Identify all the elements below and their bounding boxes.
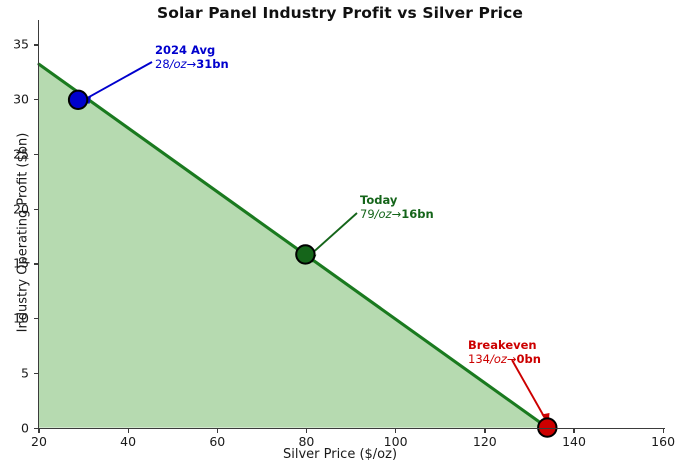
chart-plot-area (0, 0, 680, 471)
y-tick-mark (34, 209, 38, 210)
y-tick-mark (34, 373, 38, 374)
point-marker-2024-avg[interactable] (69, 91, 87, 109)
annotation-2024-avg-price: 28/oz (155, 57, 187, 71)
annotation-breakeven-profit: 0bn (517, 352, 541, 366)
y-tick-mark (34, 154, 38, 155)
annotation-breakeven-price: 134/oz (468, 352, 507, 366)
avg-annotation-arrow (84, 62, 152, 100)
annotation-breakeven-title: Breakeven (468, 339, 541, 353)
y-axis-label: Industry Operating Profit ($bn) (16, 118, 31, 348)
y-tick-mark (34, 263, 38, 264)
annotation-today: Today 79/oz→16bn (360, 194, 434, 221)
annotation-breakeven-arrow-glyph: → (507, 352, 517, 366)
chart-figure: Solar Panel Industry Profit vs Silver Pr… (0, 0, 680, 471)
annotation-today-price: 79/oz (360, 207, 392, 221)
x-tick-mark (306, 429, 307, 433)
point-marker-today[interactable] (296, 245, 314, 263)
annotation-today-title: Today (360, 194, 434, 208)
annotation-2024-avg-detail: 28/oz→31bn (155, 58, 229, 72)
annotation-2024-avg: 2024 Avg 28/oz→31bn (155, 44, 229, 71)
x-tick-mark (38, 429, 39, 433)
annotation-breakeven: Breakeven 134/oz→0bn (468, 339, 541, 366)
annotation-today-profit: 16bn (401, 207, 433, 221)
x-tick-mark (128, 429, 129, 433)
today-annotation-arrow (309, 213, 357, 256)
annotation-2024-avg-title: 2024 Avg (155, 44, 229, 58)
annotation-2024-avg-profit: 31bn (196, 57, 228, 71)
y-tick-label: 0 (0, 420, 29, 435)
x-tick-mark (573, 429, 574, 433)
x-tick-mark (217, 429, 218, 433)
x-tick-mark (395, 429, 396, 433)
y-tick-label: 5 (0, 365, 29, 380)
annotation-today-detail: 79/oz→16bn (360, 208, 434, 222)
y-tick-mark (34, 44, 38, 45)
x-tick-mark (484, 429, 485, 433)
y-axis-spine (38, 20, 39, 430)
annotation-today-arrow-glyph: → (392, 207, 402, 221)
annotation-2024-avg-arrow-glyph: → (187, 57, 197, 71)
y-tick-label: 35 (0, 37, 29, 52)
y-tick-mark (34, 428, 38, 429)
y-tick-mark (34, 318, 38, 319)
x-tick-mark (663, 429, 664, 433)
x-axis-label: Silver Price ($/oz) (0, 447, 680, 462)
y-tick-label: 30 (0, 92, 29, 107)
annotation-breakeven-detail: 134/oz→0bn (468, 353, 541, 367)
x-axis-spine (38, 428, 665, 429)
y-tick-mark (34, 99, 38, 100)
